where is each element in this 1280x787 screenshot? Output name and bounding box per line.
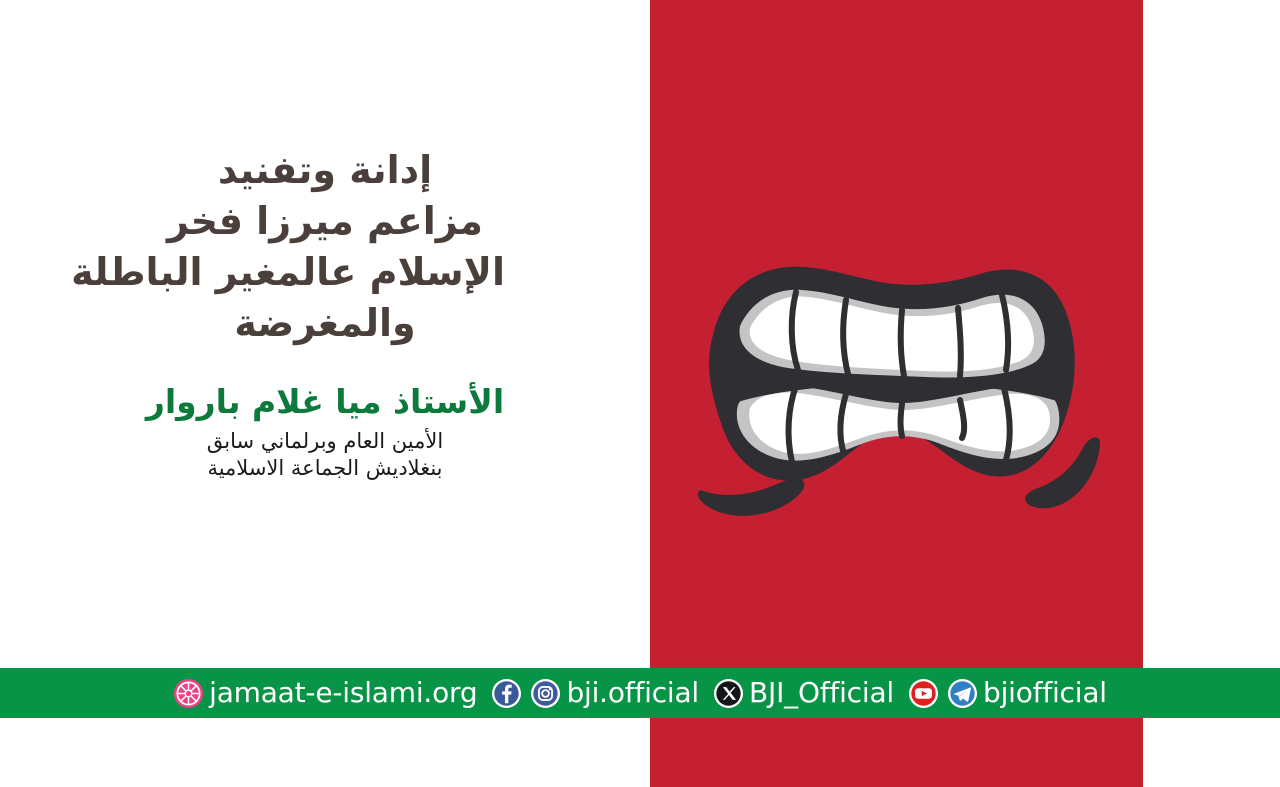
social-link-youtube[interactable] (908, 678, 939, 709)
telegram-icon[interactable] (947, 678, 978, 709)
social-label-telegram[interactable]: bjiofficial (983, 679, 1107, 707)
headline-line-3: الإسلام عالمغير الباطلة (145, 247, 505, 298)
youtube-icon[interactable] (908, 678, 939, 709)
social-link-website[interactable]: jamaat-e-islami.org (173, 678, 477, 709)
speaker-role-line-2: بنغلاديش الجماعة الاسلامية (207, 455, 443, 483)
speaker-name: الأستاذ ميا غلام باروار (146, 383, 504, 422)
poster-canvas: إدانة وتفنيد مزاعم ميرزا فخر الإسلام عال… (0, 0, 1280, 787)
speaker-role-line-1: الأمين العام وبرلماني سابق (207, 428, 443, 456)
social-link-facebook[interactable] (491, 678, 522, 709)
social-link-x-twitter[interactable]: BJI_Official (713, 678, 894, 709)
speaker-role: الأمين العام وبرلماني سابق بنغلاديش الجم… (207, 428, 443, 483)
text-column: إدانة وتفنيد مزاعم ميرزا فخر الإسلام عال… (0, 0, 650, 668)
social-label-website[interactable]: jamaat-e-islami.org (209, 679, 477, 707)
headline: إدانة وتفنيد مزاعم ميرزا فخر الإسلام عال… (145, 145, 505, 349)
footer-social-bar: jamaat-e-islami.org (0, 668, 1280, 718)
website-globe-icon[interactable] (173, 678, 204, 709)
social-link-instagram[interactable]: bji.official (530, 678, 699, 709)
headline-line-4: والمغرضة (145, 298, 505, 349)
headline-line-1: إدانة وتفنيد (145, 145, 505, 196)
headline-line-2: مزاعم ميرزا فخر (145, 196, 505, 247)
facebook-icon[interactable] (491, 678, 522, 709)
social-links-row: jamaat-e-islami.org (173, 678, 1107, 709)
social-label-instagram[interactable]: bji.official (566, 679, 699, 707)
x-twitter-icon[interactable] (713, 678, 744, 709)
social-link-telegram[interactable]: bjiofficial (947, 678, 1107, 709)
angry-gritted-teeth-mouth-illustration (680, 240, 1120, 540)
instagram-icon[interactable] (530, 678, 561, 709)
social-label-x-twitter[interactable]: BJI_Official (749, 679, 894, 707)
